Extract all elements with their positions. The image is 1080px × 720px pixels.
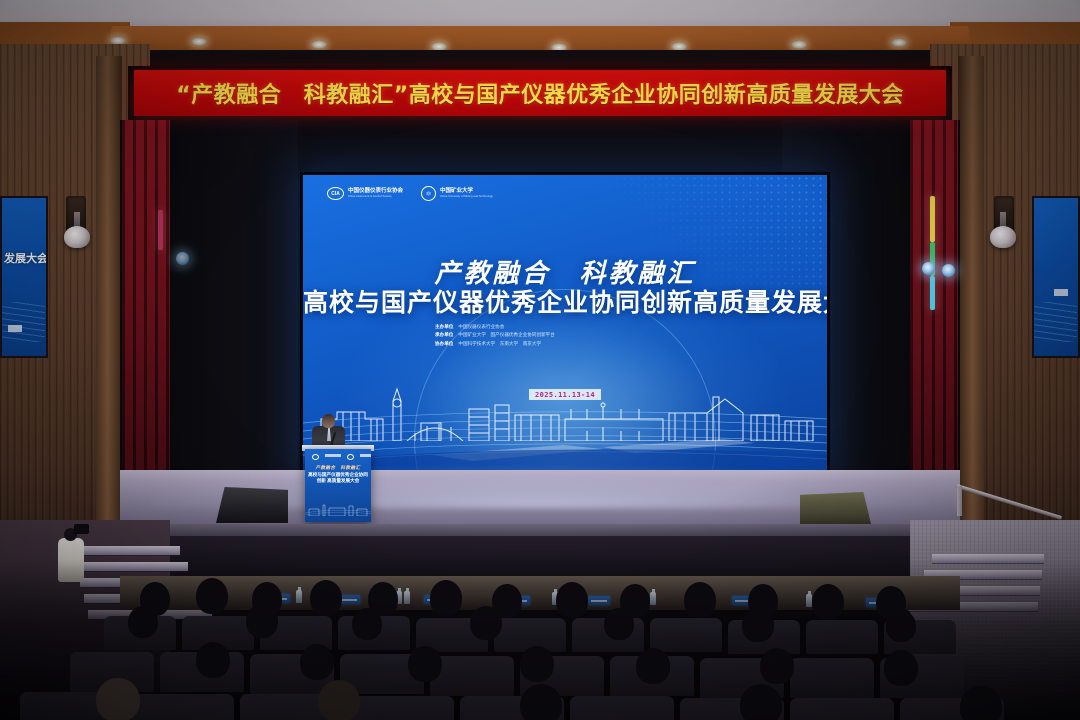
wall-pillar-left — [96, 56, 122, 526]
audience-head — [886, 610, 916, 642]
downlight-icon — [191, 37, 207, 46]
audience-head — [960, 686, 1002, 720]
screen-title: 高校与国产仪器优秀企业协同创新高质量发展大会 — [303, 283, 827, 319]
audience-head — [318, 680, 360, 720]
seat-back — [790, 658, 874, 698]
wave-lines-graphic — [1032, 302, 1077, 342]
seat-back — [130, 694, 234, 720]
audience-head — [520, 684, 562, 720]
presenter-head — [322, 414, 335, 428]
moving-head-light — [922, 262, 935, 275]
wave-lines-graphic — [303, 405, 827, 475]
seat-back — [570, 696, 674, 720]
auditorium-photo: 发展大会 “产教融合 科教融汇”高校与国产仪器优秀企业协同创新高质量发展大会 — [0, 0, 1080, 720]
side-display-left-text: 发展大会 — [4, 250, 48, 266]
organizer-key: 协办单位 — [435, 340, 453, 348]
downlight-icon — [311, 40, 327, 49]
seat-back — [350, 696, 454, 720]
led-strip-cyan — [930, 276, 935, 310]
organizer-key: 主办单位 — [435, 323, 453, 331]
podium-logo-text-bar — [325, 454, 341, 457]
audience-head — [742, 608, 774, 642]
seat-back — [790, 698, 894, 720]
overhead-banner: “产教融合 科教融汇”高校与国产仪器优秀企业协同创新高质量发展大会 — [134, 70, 946, 116]
audience-head — [196, 578, 228, 614]
side-display-badge — [1054, 289, 1068, 296]
led-strip-yellow — [930, 196, 935, 242]
audience-head — [556, 582, 588, 618]
stage-monitor-speaker — [216, 487, 288, 523]
led-screen-content: CIA 中国仪器仪表行业协会 China Instrument & Contro… — [303, 175, 827, 475]
logo-university-name-en: China University of Mining and Technolog… — [440, 195, 493, 198]
audience-head — [196, 642, 230, 678]
side-display-left: 发展大会 — [0, 196, 48, 358]
organizer-row: 主办单位 中国仪器仪表行业协会 — [435, 323, 695, 331]
audience-head — [604, 608, 634, 640]
audience-head — [310, 580, 342, 616]
camera-icon — [74, 524, 89, 534]
logo-university: ⚛ 中国矿业大学 China University of Mining and … — [421, 186, 493, 201]
audience-head — [300, 644, 334, 680]
downlight-icon — [891, 38, 907, 47]
audience-head — [96, 678, 140, 720]
ptz-camera-icon — [64, 226, 90, 248]
audience-head — [128, 606, 158, 638]
audience-head — [408, 646, 442, 682]
audience-head — [740, 684, 782, 720]
side-display-badge — [8, 325, 22, 332]
seat-back — [430, 656, 514, 696]
audience-head — [520, 646, 554, 682]
stage-monitor-speaker — [800, 492, 872, 528]
audience-head — [246, 604, 278, 638]
ptz-camera-icon — [990, 226, 1016, 248]
side-display-right — [1032, 196, 1080, 358]
podium-cia-logo-icon — [312, 454, 319, 460]
podium-title: 高校与国产仪器优秀企业协同创新 高质量发展大会 — [308, 472, 368, 484]
organizer-value: 中国矿业大学 国产仪器优秀企业协同创新平台 — [458, 331, 554, 339]
seat-back — [650, 618, 722, 652]
moving-head-light — [176, 252, 189, 265]
screen-logo-row: CIA 中国仪器仪表行业协会 China Instrument & Contro… — [327, 186, 493, 201]
podium-logo-text-bar — [360, 454, 371, 457]
stage-curtain-left — [122, 120, 170, 520]
university-seal-logo-icon: ⚛ — [421, 186, 436, 201]
audience-head — [812, 584, 844, 620]
handrail-post — [957, 486, 962, 516]
organizer-row: 承办单位 中国矿业大学 国产仪器优秀企业协同创新平台 — [435, 331, 695, 339]
stage-wing-left — [170, 120, 298, 520]
screen-organizer-list: 主办单位 中国仪器仪表行业协会 承办单位 中国矿业大学 国产仪器优秀企业协同创新… — [435, 323, 695, 348]
audience-head — [760, 648, 794, 684]
wave-lines-graphic — [0, 302, 45, 342]
downlight-icon — [791, 40, 807, 49]
organizer-value: 中国科学技术大学 东南大学 南京大学 — [458, 340, 541, 348]
stair-step — [72, 546, 180, 555]
wall-pillar-right — [958, 56, 984, 526]
podium: 产教融合 科教融汇 高校与国产仪器优秀企业协同创新 高质量发展大会 — [305, 449, 371, 522]
banner-text: “产教融合 科教融汇”高校与国产仪器优秀企业协同创新高质量发展大会 — [176, 77, 903, 109]
seat-back — [806, 620, 878, 654]
podium-university-logo-icon — [347, 454, 354, 460]
cia-oval-logo-icon: CIA — [327, 187, 344, 200]
logo-cia: CIA 中国仪器仪表行业协会 China Instrument & Contro… — [327, 187, 403, 200]
ceiling-beam-wood — [108, 26, 972, 52]
moving-head-light — [942, 264, 955, 277]
audience-head — [884, 650, 918, 686]
audience-area — [0, 560, 1080, 720]
audience-head — [684, 582, 716, 618]
audience-head — [470, 606, 502, 640]
logo-cia-name-en: China Instrument & Control Society — [348, 195, 403, 198]
audience-head — [636, 648, 670, 684]
organizer-key: 承办单位 — [435, 331, 453, 339]
organizer-row: 协办单位 中国科学技术大学 东南大学 南京大学 — [435, 340, 695, 348]
audience-head — [430, 580, 462, 616]
organizer-value: 中国仪器仪表行业协会 — [458, 323, 504, 331]
podium-logo-row — [312, 454, 371, 460]
podium-skyline-graphic — [305, 498, 371, 516]
stage-curtain-right — [910, 120, 958, 520]
audience-head — [352, 608, 382, 640]
podium-slogan: 产教融合 科教融汇 — [305, 465, 371, 471]
main-led-screen: CIA 中国仪器仪表行业协会 China Instrument & Contro… — [300, 172, 830, 478]
led-strip-magenta — [158, 210, 163, 250]
